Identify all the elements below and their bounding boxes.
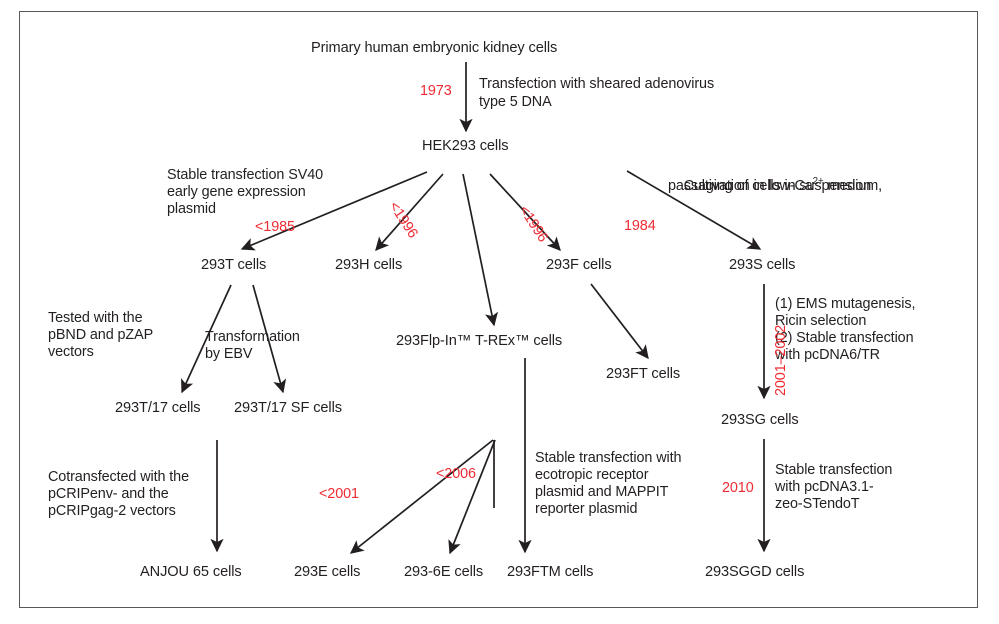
annot-transfection-adenovirus-line2: type 5 DNA [479,94,552,112]
annot-ems-line1: (1) EMS mutagenesis, [775,296,915,314]
annot-transfection-adenovirus-line1: Transfection with sheared adenovirus [479,76,714,94]
year-2010: 2010 [722,480,754,498]
year-2001-2002: 2001–2002 [757,378,844,431]
node-293ftm: 293FTM cells [507,564,593,582]
node-293-6e: 293-6E cells [404,564,483,582]
annot-tested-vectors-line2: pBND and pZAP [48,327,153,345]
year-lt-1996-293h: <1996 [383,181,439,234]
annot-ebv-line2: by EBV [205,346,252,364]
annot-tested-vectors-line3: vectors [48,344,94,362]
annot-low-ca-medium-line2: passaging of cells in suspension [668,178,871,196]
node-293ft: 293FT cells [606,366,680,384]
node-293f: 293F cells [546,257,612,275]
annot-stendot-line3: zeo-STendoT [775,496,860,514]
node-293e: 293E cells [294,564,360,582]
annot-stendot-line2: with pcDNA3.1- [775,479,874,497]
annot-sv40-line1: Stable transfection SV40 [167,167,323,185]
node-293t17: 293T/17 cells [115,400,201,418]
year-lt-1996-293f: <1996 [513,185,569,238]
annot-ecotropic-line3: plasmid and MAPPIT [535,484,668,502]
annot-ecotropic-line1: Stable transfection with [535,450,681,468]
annot-ecotropic-line4: reporter plasmid [535,501,637,519]
annot-cotransfected-line2: pCRIPenv- and the [48,486,169,504]
node-anjou-65: ANJOU 65 cells [140,564,242,582]
annot-sv40-line3: plasmid [167,201,216,219]
annot-cotransfected-line1: Cotransfected with the [48,469,189,487]
node-293t: 293T cells [201,257,266,275]
year-lt-2001: <2001 [319,486,359,504]
annot-cotransfected-line3: pCRIPgag-2 vectors [48,503,176,521]
annot-stendot-line1: Stable transfection [775,462,892,480]
annot-sv40-line2: early gene expression [167,184,306,202]
year-2001-2002-text: 2001–2002 [773,324,791,395]
node-primary-cells: Primary human embryonic kidney cells [311,40,557,58]
annot-ems-line4: with pcDNA6/TR [775,347,880,365]
diagram-canvas: Primary human embryonic kidney cells HEK… [0,0,999,624]
annot-ebv-line1: Transformation [205,329,300,347]
node-293sggd: 293SGGD cells [705,564,804,582]
node-293flp-in-trex: 293Flp-In™ T-REx™ cells [396,333,562,351]
node-293s: 293S cells [729,257,795,275]
node-293h: 293H cells [335,257,402,275]
annot-ems-line3: (2) Stable transfection [775,330,913,348]
year-lt-1985: <1985 [255,219,295,237]
node-293t17-sf: 293T/17 SF cells [234,400,342,418]
node-hek293: HEK293 cells [422,138,508,156]
annot-tested-vectors-line1: Tested with the [48,310,143,328]
year-1984: 1984 [624,218,656,236]
annot-ecotropic-line2: ecotropic receptor [535,467,648,485]
year-1973: 1973 [420,83,452,101]
year-lt-2006: <2006 [436,466,476,484]
